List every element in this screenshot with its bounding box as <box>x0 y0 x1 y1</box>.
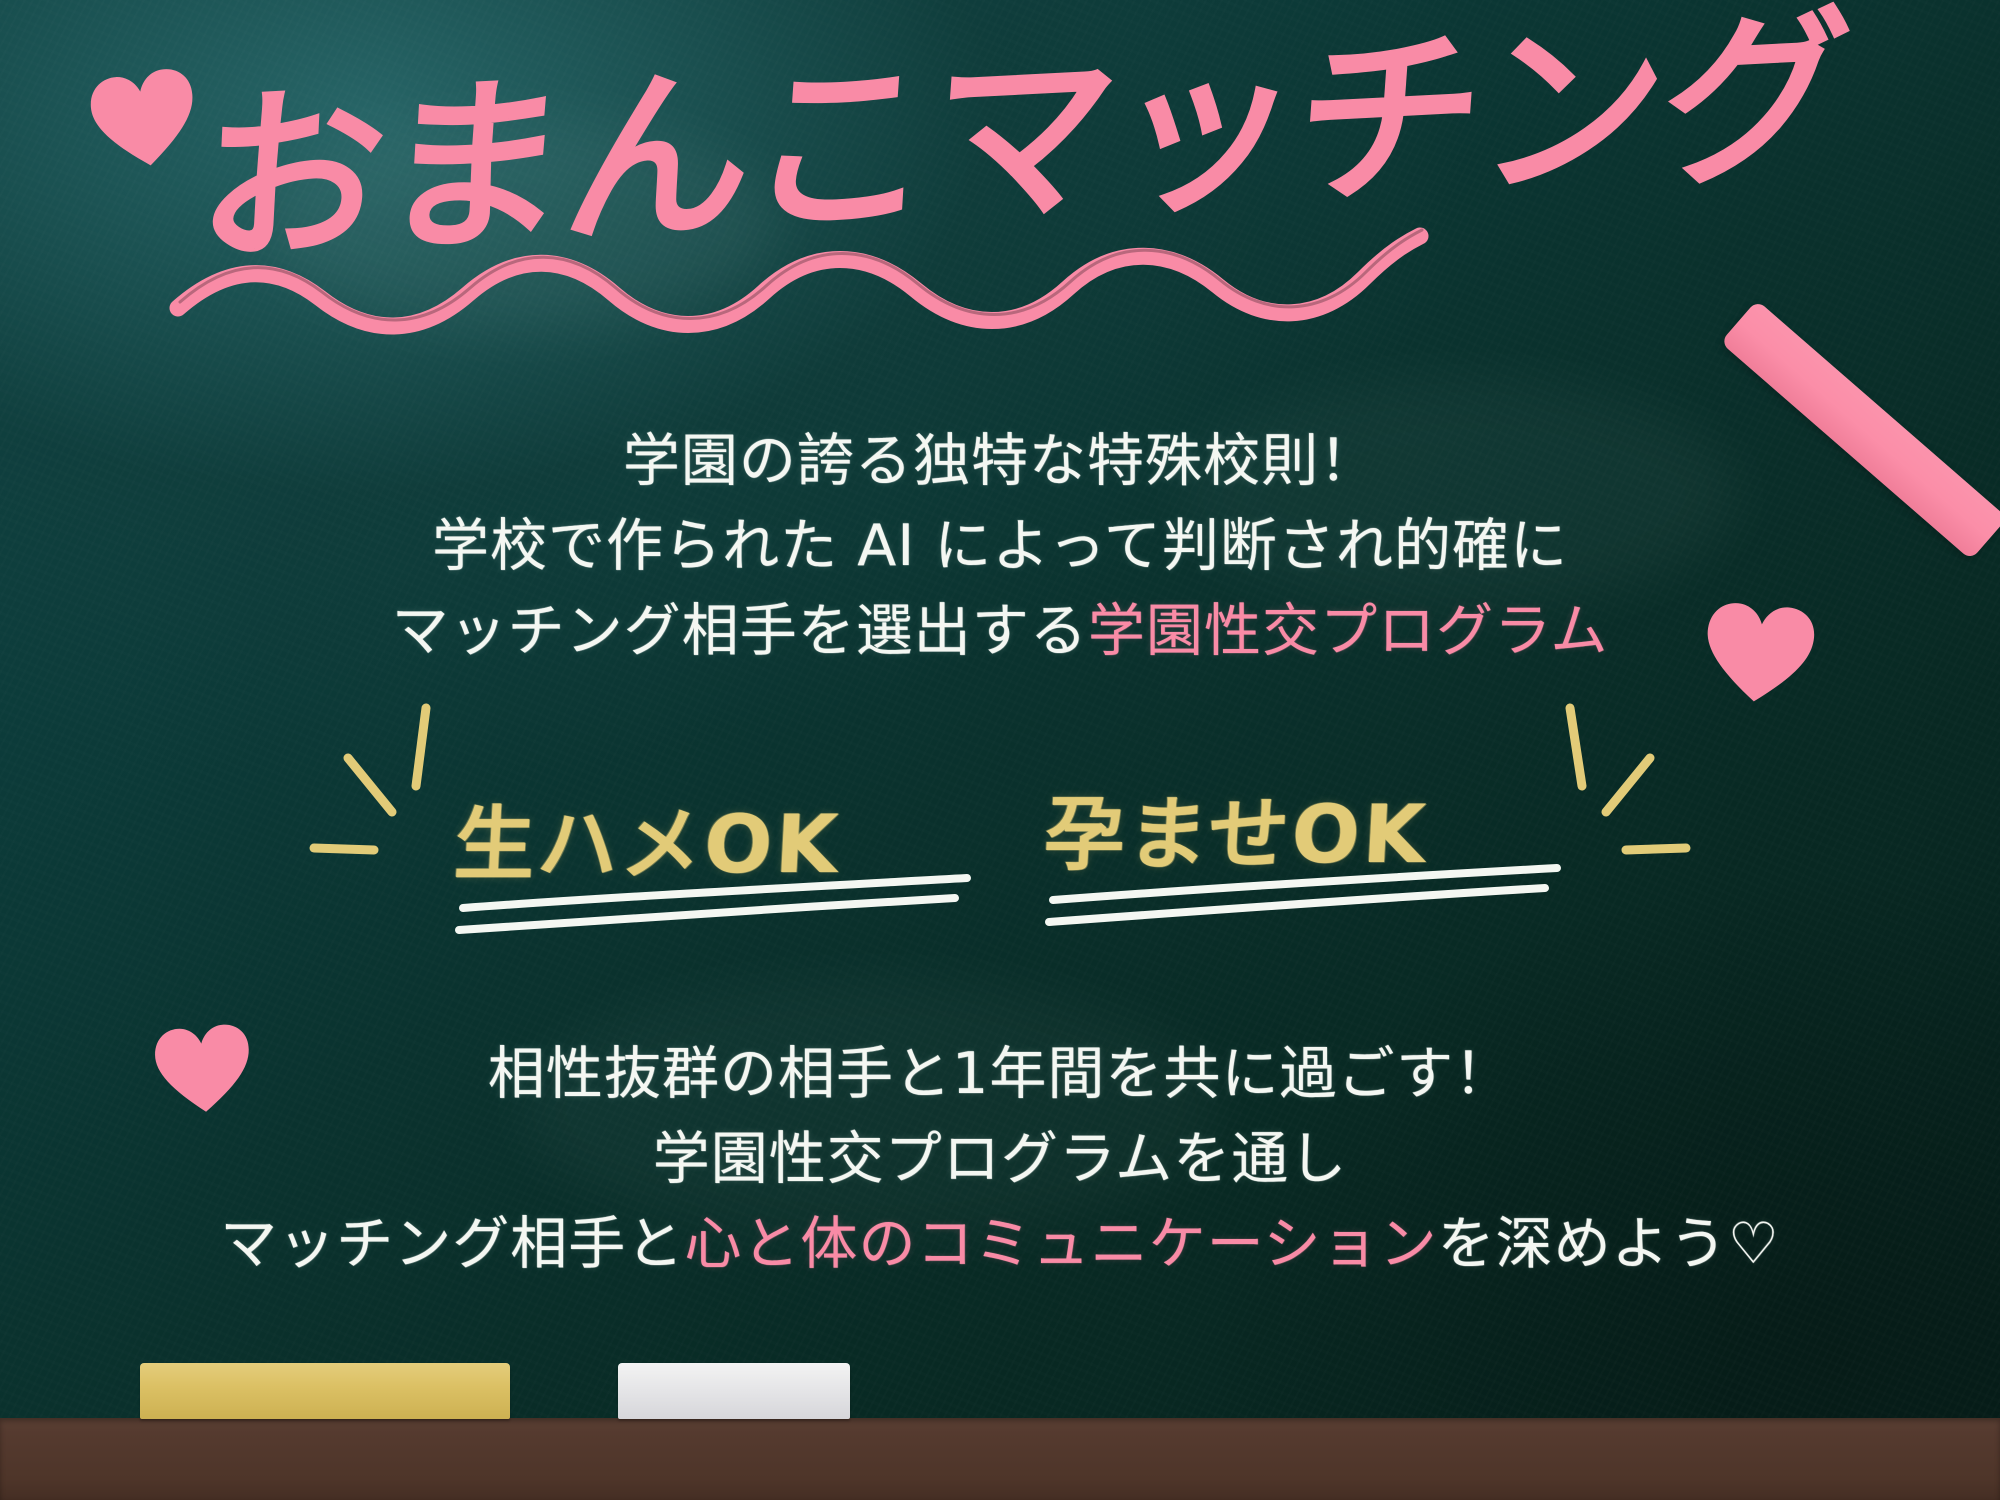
outro-line-3-white-a: マッチング相手と <box>220 1211 684 1277</box>
intro-line-3-white: マッチング相手を選出する <box>392 598 1088 664</box>
intro-line-3-highlight: 学園性交プログラム <box>1088 598 1609 664</box>
chalk-stick-yellow-icon <box>140 1363 510 1419</box>
title-wavy-underline <box>168 190 1428 330</box>
outro-line-3-highlight: 心と体のコミュニケーション <box>684 1211 1437 1277</box>
outro-line-3: マッチング相手と心と体のコミュニケーションを深めよう♡ <box>0 1198 2000 1280</box>
intro-line-1: 学園の誇る独特な特殊校則！ <box>0 415 2000 497</box>
outro-line-1: 相性抜群の相手と1年間を共に過ごす！ <box>0 1028 2000 1110</box>
outro-line-3-white-b: を深めよう♡ <box>1438 1211 1780 1277</box>
badge-impregnate-ok: 孕ませOK <box>1045 770 1429 886</box>
badge-impregnate-ok-underline <box>1045 866 1565 924</box>
badge-raw-ok: 生ハメOK <box>455 780 841 896</box>
chalkboard-banner: おまんこマッチング おまんこマッチング 学園の誇る独特な特殊校則！ 学校で作られ… <box>0 0 2000 1500</box>
badge-raw-ok-underline <box>455 876 975 934</box>
chalk-stick-white-icon <box>618 1363 850 1419</box>
heart-top-left-icon <box>82 61 207 176</box>
badge-row: 生ハメOK 孕ませOK <box>0 770 2000 960</box>
intro-line-3: マッチング相手を選出する学園性交プログラム <box>0 585 2000 667</box>
chalk-tray <box>0 1418 2000 1500</box>
outro-line-2: 学園性交プログラムを通し <box>0 1113 2000 1195</box>
intro-line-2: 学校で作られた AI によって判断され的確に <box>0 500 2000 582</box>
